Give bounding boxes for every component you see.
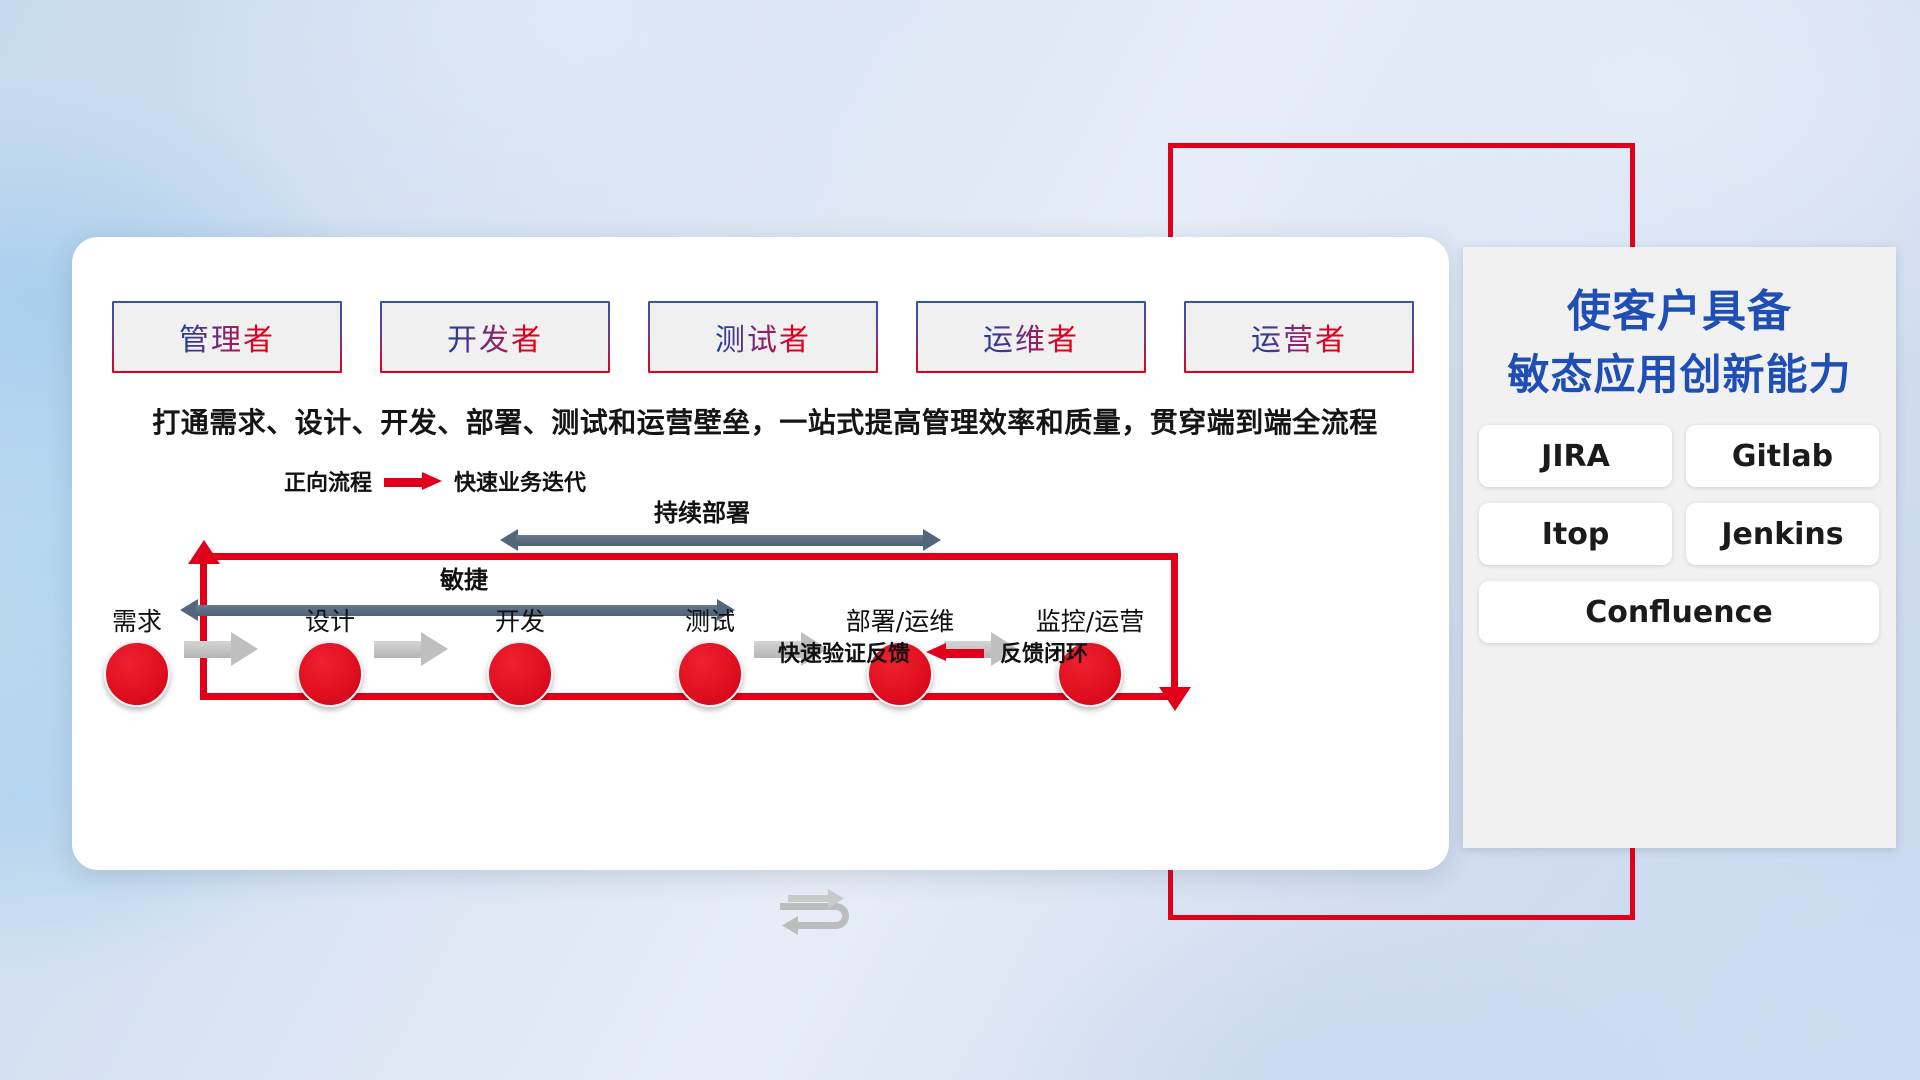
arrow-head <box>231 632 258 666</box>
panel-title-line-1: 使客户具备 <box>1463 275 1896 339</box>
tool-chip-jira[interactable]: JIRA <box>1479 425 1672 487</box>
tool-chip-gitlab[interactable]: Gitlab <box>1686 425 1879 487</box>
arrow-shaft <box>384 478 424 487</box>
arrow-head-right <box>923 529 941 551</box>
stage-label: 测试 <box>650 602 770 638</box>
arrow-body <box>374 641 422 658</box>
main-diagram-card: 管理者 开发者 测试者 运维者 运营者 打通需求、设计、开发、部署、测试和运营壁… <box>72 237 1449 870</box>
role-label: 运维者 <box>983 315 1079 359</box>
stage-label: 监控/运营 <box>1030 602 1150 638</box>
stage-label: 需求 <box>77 602 197 638</box>
legend-feedback-right-label: 反馈闭环 <box>1000 636 1088 668</box>
role-label: 开发者 <box>447 315 543 359</box>
value-proposition-panel: 使客户具备 敏态应用创新能力 JIRA Gitlab Itop Jenkins … <box>1463 247 1896 848</box>
arrow-body <box>184 641 232 658</box>
legend-forward-right-label: 快速业务迭代 <box>454 465 586 497</box>
legend-forward-left-label: 正向流程 <box>284 465 372 497</box>
stage-dot <box>104 641 170 707</box>
arrow-head <box>422 472 442 490</box>
tool-chip-itop[interactable]: Itop <box>1479 503 1672 565</box>
role-label: 管理者 <box>179 315 275 359</box>
stage-requirement[interactable]: 需求 <box>77 602 197 707</box>
legend-forward-flow: 正向流程 快速业务迭代 <box>284 465 586 497</box>
description-text: 打通需求、设计、开发、部署、测试和运营壁垒，一站式提高管理效率和质量，贯穿端到端… <box>100 401 1430 441</box>
span-label-continuous-deployment: 持续部署 <box>654 493 750 528</box>
span-arrow-continuous-deployment <box>500 529 941 551</box>
flow-arrow-design-to-development <box>374 632 448 666</box>
feedback-loop-rail-left <box>200 553 207 693</box>
role-label: 测试者 <box>715 315 811 359</box>
stage-label: 开发 <box>460 602 580 638</box>
feedback-loop-rail-right <box>1171 553 1178 698</box>
stage-design[interactable]: 设计 <box>270 602 390 707</box>
stage-dot <box>297 641 363 707</box>
arrow-shaft <box>944 649 984 658</box>
stage-label: 设计 <box>270 602 390 638</box>
stage-dot <box>677 641 743 707</box>
role-box-tester[interactable]: 测试者 <box>648 301 878 373</box>
span-label-agile: 敏捷 <box>440 560 488 595</box>
feedback-loop-arrow-head-up <box>188 540 220 564</box>
role-box-operations-engineer[interactable]: 运维者 <box>916 301 1146 373</box>
tool-chip-jenkins[interactable]: Jenkins <box>1686 503 1879 565</box>
legend-feedback-loop: 快速验证反馈 反馈闭环 <box>778 636 1088 668</box>
legend-feedback-left-label: 快速验证反馈 <box>778 636 910 668</box>
stage-label: 部署/运维 <box>840 602 960 638</box>
stage-dot <box>487 641 553 707</box>
role-box-row: 管理者 开发者 测试者 运维者 运营者 <box>112 301 1414 373</box>
arrow-bar <box>516 535 925 546</box>
role-box-business-operator[interactable]: 运营者 <box>1184 301 1414 373</box>
iteration-cycle-icon <box>778 889 874 947</box>
feedback-loop-rail-top <box>200 553 1178 560</box>
flow-arrow-requirement-to-design <box>184 632 258 666</box>
arrow-head <box>926 643 946 661</box>
stage-development[interactable]: 开发 <box>460 602 580 707</box>
tool-chip-confluence[interactable]: Confluence <box>1479 581 1879 643</box>
arrow-left-red-icon <box>926 645 984 659</box>
role-box-developer[interactable]: 开发者 <box>380 301 610 373</box>
arrow-head <box>421 632 448 666</box>
role-box-manager[interactable]: 管理者 <box>112 301 342 373</box>
role-label: 运营者 <box>1251 315 1347 359</box>
stage-testing[interactable]: 测试 <box>650 602 770 707</box>
panel-title-line-2: 敏态应用创新能力 <box>1463 341 1896 402</box>
tool-chip-grid: JIRA Gitlab Itop Jenkins Confluence <box>1479 425 1879 643</box>
arrow-right-red-icon <box>384 474 442 488</box>
